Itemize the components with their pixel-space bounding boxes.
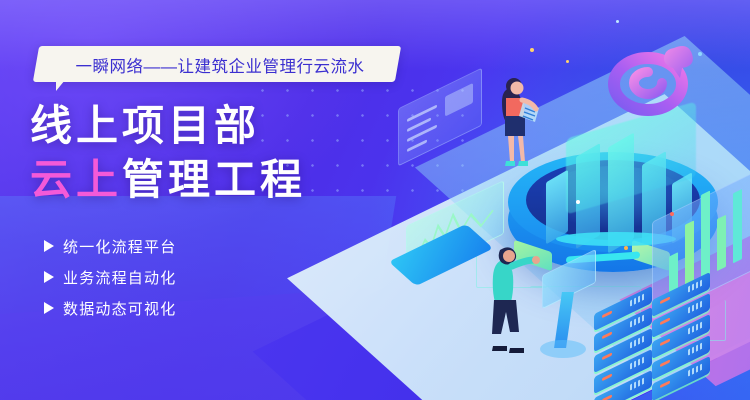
sparkle-dot bbox=[624, 246, 628, 250]
triangle-right-icon bbox=[44, 240, 54, 252]
chart-bar bbox=[701, 191, 710, 279]
sparkle-dot bbox=[566, 60, 569, 63]
chart-bar bbox=[685, 220, 694, 286]
chart-bar bbox=[733, 189, 742, 263]
isometric-illustration bbox=[380, 0, 750, 400]
triangle-right-icon bbox=[44, 302, 54, 314]
feature-item: 统一化流程平台 bbox=[44, 234, 176, 258]
tagline-text: 一瞬网络——让建筑企业管理行云流水 bbox=[46, 52, 394, 78]
feature-item: 业务流程自动化 bbox=[44, 265, 176, 289]
sparkle-dot bbox=[576, 200, 580, 204]
headline-highlight: 云上 bbox=[30, 156, 122, 203]
chart-bar bbox=[717, 215, 726, 271]
headline-line-2: 云上管理工程 bbox=[30, 158, 306, 202]
sparkle-dot bbox=[616, 20, 619, 23]
triangle-right-icon bbox=[44, 271, 54, 283]
sparkle-dot bbox=[530, 48, 534, 52]
promo-banner: 一瞬网络——让建筑企业管理行云流水 线上项目部 云上管理工程 统一化流程平台 业… bbox=[0, 0, 750, 400]
swirl-logo-icon bbox=[602, 32, 704, 124]
ui-card-thumbnail bbox=[445, 83, 473, 117]
feature-label: 数据动态可视化 bbox=[63, 298, 176, 319]
sparkle-dot bbox=[698, 52, 702, 56]
headline-line-1: 线上项目部 bbox=[30, 104, 260, 148]
server-rack bbox=[594, 300, 652, 400]
kiosk-base bbox=[540, 340, 586, 358]
feature-label: 业务流程自动化 bbox=[63, 267, 176, 288]
banner-copy: 一瞬网络——让建筑企业管理行云流水 线上项目部 云上管理工程 统一化流程平台 业… bbox=[0, 0, 430, 400]
feature-label: 统一化流程平台 bbox=[63, 236, 176, 257]
platform-tower bbox=[546, 170, 568, 245]
feature-item: 数据动态可视化 bbox=[44, 296, 176, 320]
woman-figure bbox=[492, 66, 540, 174]
headline-rest: 管理工程 bbox=[122, 156, 306, 203]
sparkle-dot bbox=[670, 212, 674, 216]
server-rack bbox=[652, 286, 710, 391]
feature-list: 统一化流程平台 业务流程自动化 数据动态可视化 bbox=[44, 234, 176, 327]
tagline-bubble-tail bbox=[56, 80, 65, 91]
